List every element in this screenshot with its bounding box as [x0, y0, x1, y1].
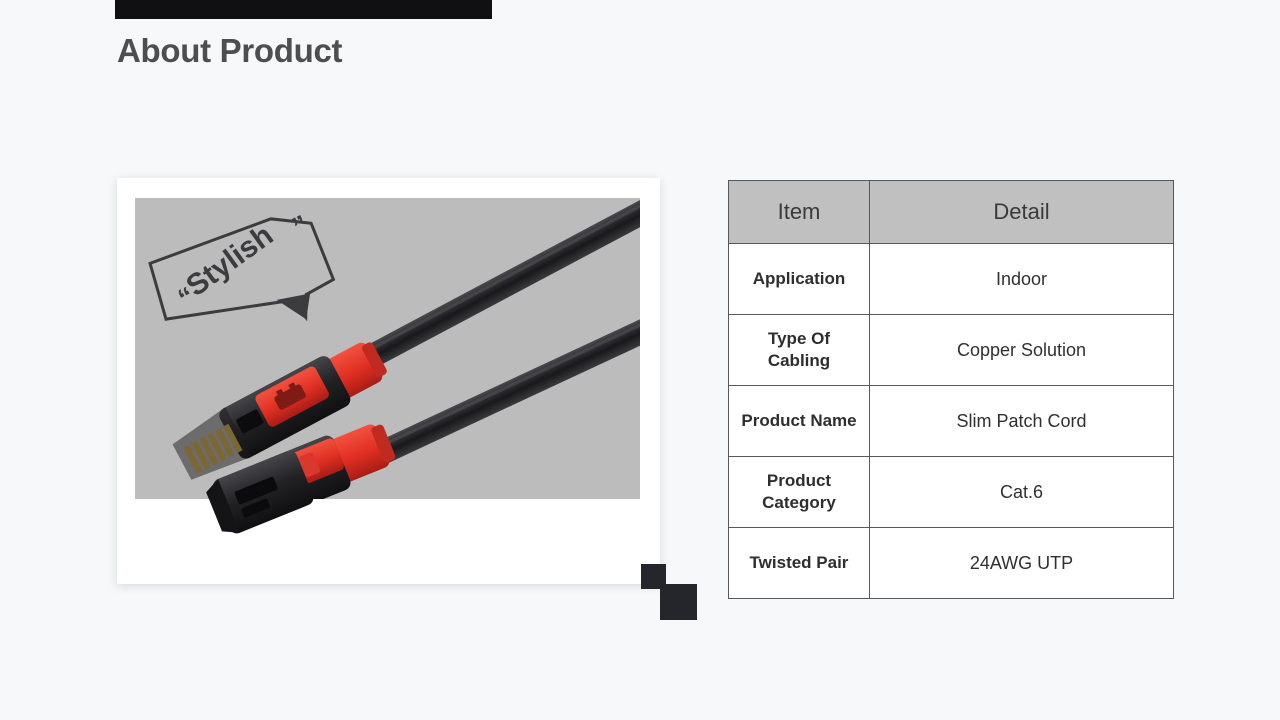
- spec-detail-application: Indoor: [870, 244, 1174, 315]
- decor-square-large: [660, 584, 697, 620]
- column-header-detail: Detail: [870, 181, 1174, 244]
- page-title: About Product: [117, 29, 342, 73]
- spec-detail-product-category: Cat.6: [870, 457, 1174, 528]
- spec-detail-twisted-pair: 24AWG UTP: [870, 528, 1174, 599]
- table-header-row: Item Detail: [729, 181, 1174, 244]
- spec-item-type-of-cabling: Type Of Cabling: [729, 315, 870, 386]
- spec-detail-product-name: Slim Patch Cord: [870, 386, 1174, 457]
- spec-detail-type-of-cabling: Copper Solution: [870, 315, 1174, 386]
- svg-text:Stylish: Stylish: [180, 219, 279, 304]
- product-photo-card: “ ” Stylish: [117, 178, 660, 584]
- cable-illustration: “ ” Stylish: [135, 198, 640, 499]
- table-row: Product Category Cat.6: [729, 457, 1174, 528]
- spec-item-product-category: Product Category: [729, 457, 870, 528]
- table-row: Product Name Slim Patch Cord: [729, 386, 1174, 457]
- product-spec-table: Item Detail Application Indoor Type Of C…: [728, 180, 1174, 599]
- table-row: Twisted Pair 24AWG UTP: [729, 528, 1174, 599]
- spec-item-twisted-pair: Twisted Pair: [729, 528, 870, 599]
- product-photo-backdrop: “ ” Stylish: [135, 198, 640, 499]
- product-photo: “ ” Stylish: [135, 198, 640, 499]
- top-accent-bar: [115, 0, 492, 19]
- table-row: Type Of Cabling Copper Solution: [729, 315, 1174, 386]
- svg-text:”: ”: [287, 209, 312, 242]
- table-row: Application Indoor: [729, 244, 1174, 315]
- spec-item-application: Application: [729, 244, 870, 315]
- column-header-item: Item: [729, 181, 870, 244]
- spec-item-product-name: Product Name: [729, 386, 870, 457]
